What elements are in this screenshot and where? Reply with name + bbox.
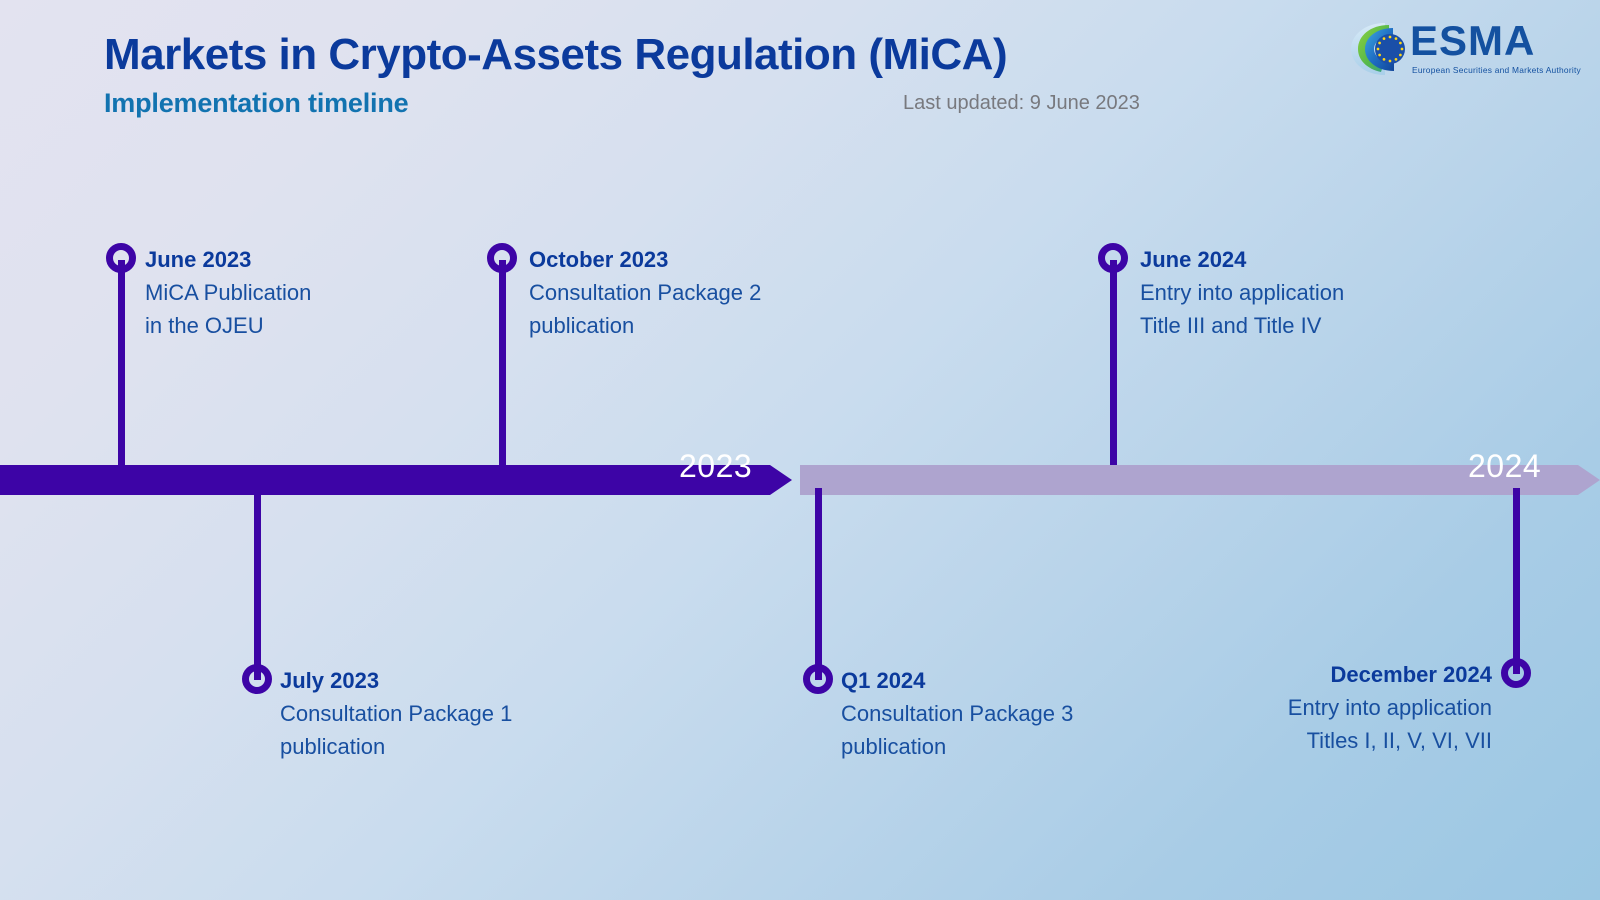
milestone-desc-line-2: publication [841,730,1073,763]
esma-wordmark: ESMA [1410,18,1535,64]
milestone-marker[interactable] [803,664,833,694]
milestone-marker[interactable] [487,243,517,273]
milestone-stem [254,488,261,680]
milestone-stem [1513,488,1520,674]
milestone-date: Q1 2024 [841,664,1073,697]
timeline-year-label-2024: 2024 [1468,448,1541,485]
milestone-stem [118,260,125,465]
milestone-desc-line-1: Consultation Package 3 [841,697,1073,730]
page-subtitle: Implementation timeline [104,88,408,119]
milestone-marker[interactable] [1098,243,1128,273]
milestone-marker[interactable] [1501,658,1531,688]
milestone-date: December 2024 [1100,658,1492,691]
milestone-desc-line-1: Entry into application [1140,276,1344,309]
milestone-date: June 2023 [145,243,311,276]
milestone-date: July 2023 [280,664,512,697]
milestone-date: June 2024 [1140,243,1344,276]
esma-tagline: European Securities and Markets Authorit… [1412,65,1581,75]
milestone-marker[interactable] [106,243,136,273]
milestone-stem [1110,260,1117,465]
timeline-bar-track [0,456,1600,504]
esma-logo: ESMA European Securities and Markets Aut… [1348,18,1548,84]
milestone-stem [499,260,506,465]
milestone-desc-line-2: Title III and Title IV [1140,309,1344,342]
last-updated-text: Last updated: 9 June 2023 [903,92,1140,115]
milestone-desc-line-2: publication [280,730,512,763]
milestone-stem [815,488,822,680]
milestone-desc-line-1: Consultation Package 2 [529,276,761,309]
milestone-date: October 2023 [529,243,761,276]
milestone-desc-line-1: Consultation Package 1 [280,697,512,730]
milestone-desc-line-1: Entry into application [1100,691,1492,724]
milestone-desc-line-1: MiCA Publication [145,276,311,309]
timeline-segment-2023 [0,465,792,495]
milestone-desc-line-2: publication [529,309,761,342]
page-title: Markets in Crypto-Assets Regulation (MiC… [104,30,1007,80]
milestone-desc-line-2: in the OJEU [145,309,311,342]
milestone-marker[interactable] [242,664,272,694]
milestone-desc-line-2: Titles I, II, V, VI, VII [1100,724,1492,757]
timeline-year-label-2023: 2023 [679,448,752,485]
esma-eu-stars-logo-icon [1348,20,1410,78]
timeline-infographic: Markets in Crypto-Assets Regulation (MiC… [0,0,1600,900]
